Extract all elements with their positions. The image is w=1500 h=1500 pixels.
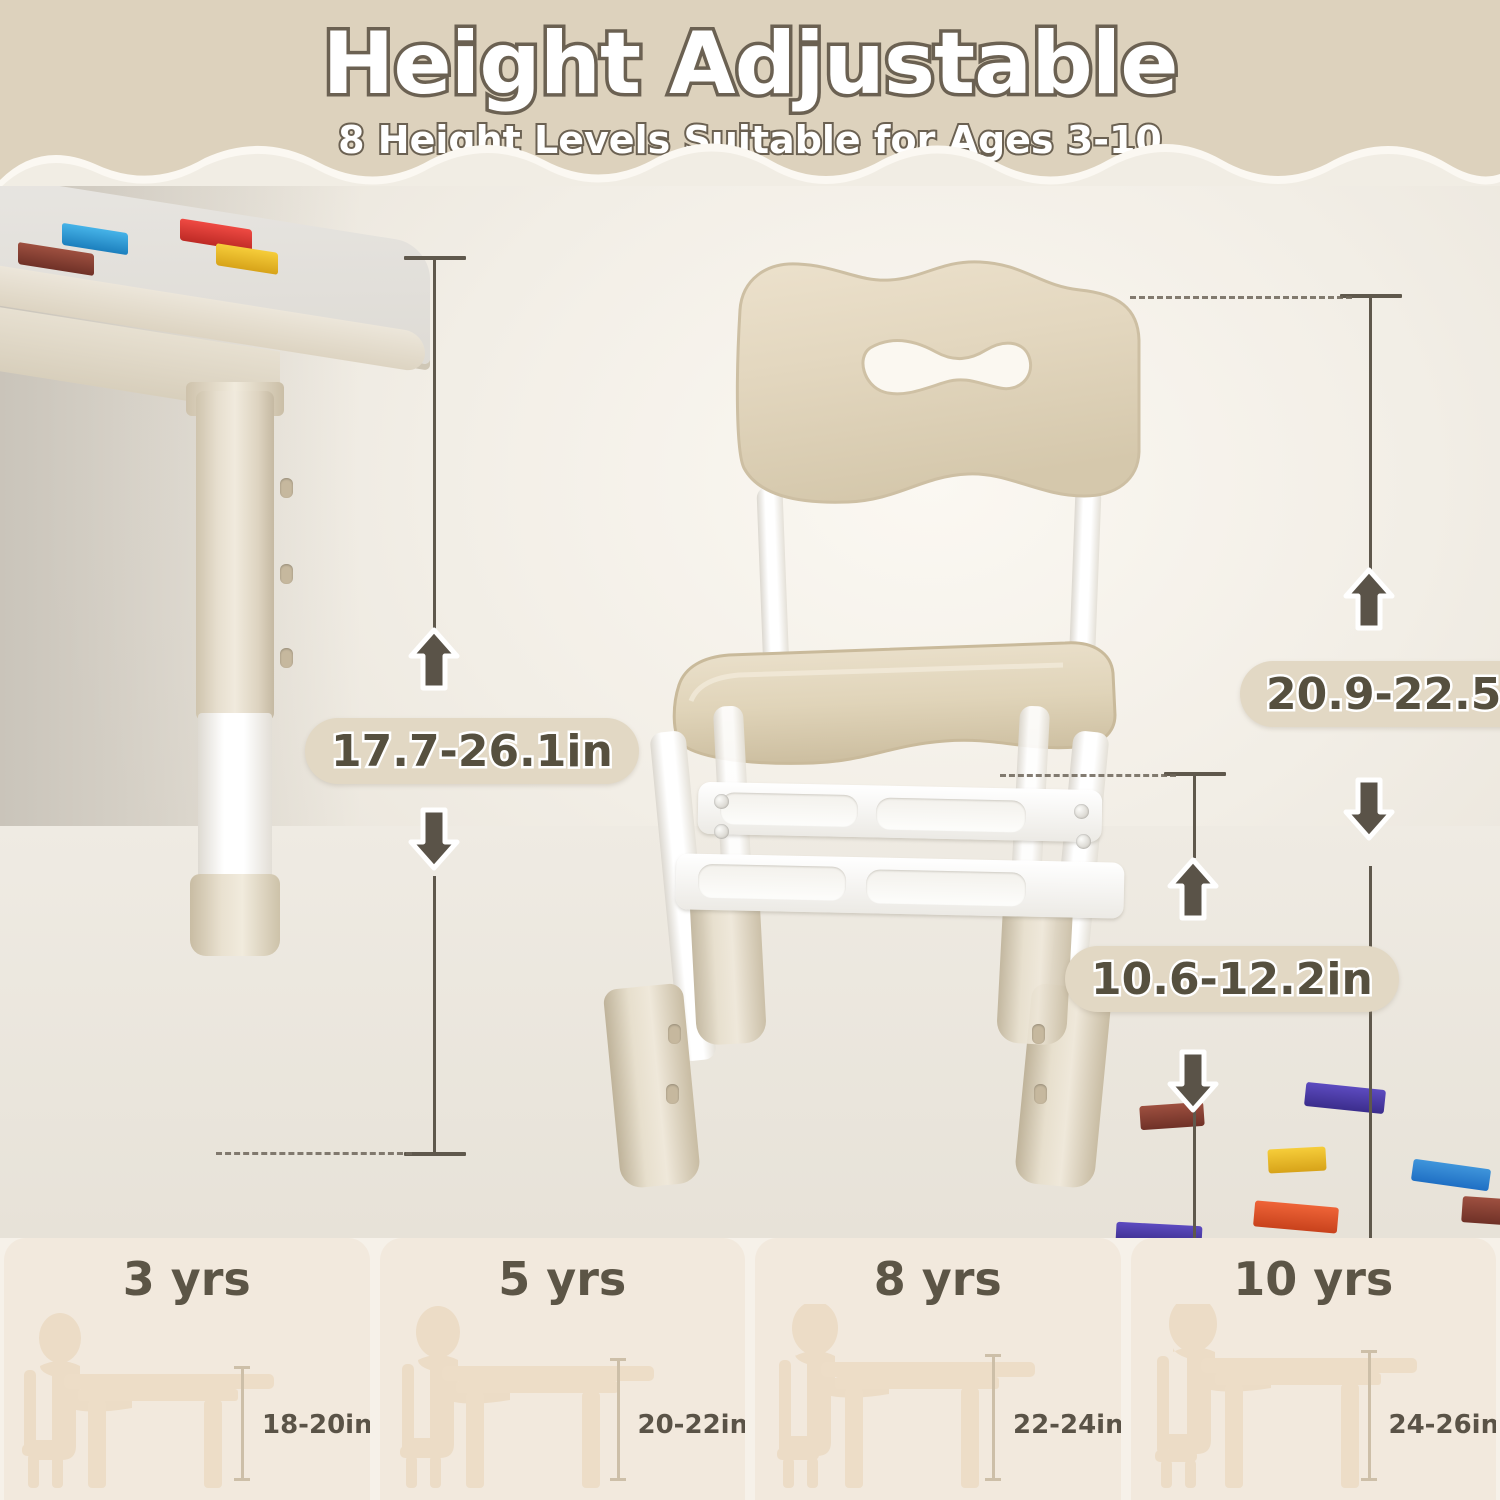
seat-height-value: 10.6-12.2in: [1091, 954, 1373, 1005]
chair-dim-line-upper: [1369, 294, 1372, 570]
table-height-value: 17.7-26.1in: [331, 726, 613, 777]
toy-block: [1461, 1196, 1500, 1226]
table-dim-leader: [216, 1152, 412, 1155]
chair-lower-rail: [675, 853, 1124, 918]
age-dim-cap-bottom: [610, 1478, 626, 1481]
age-panel-height: 18-20in: [262, 1410, 370, 1440]
table-height-badge: 17.7-26.1in: [305, 718, 639, 784]
age-panel-3yrs[interactable]: 3 yrs 18-20in: [4, 1238, 370, 1500]
age-guide-row: 3 yrs 18-20in: [0, 1238, 1500, 1500]
header-banner: Height Adjustable 8 Height Levels Suitab…: [0, 0, 1500, 200]
seat-height-badge: 10.6-12.2in: [1065, 946, 1399, 1012]
table-foot-cap: [190, 874, 280, 956]
chair-leg-adjust-hole: [1032, 1024, 1045, 1044]
age-panel-height: 24-26in: [1389, 1410, 1497, 1440]
age-dim-cap-bottom: [234, 1478, 250, 1481]
chair-height-badge: 20.9-22.5in: [1240, 661, 1500, 727]
infographic-root: Height Adjustable 8 Height Levels Suitab…: [0, 0, 1500, 1500]
age-panel-title: 3 yrs: [4, 1252, 370, 1306]
table-leg-lower: [198, 713, 272, 883]
arrow-up-icon: [407, 624, 461, 694]
arrow-down-icon: [1166, 1046, 1220, 1116]
arrow-up-icon: [1166, 854, 1220, 924]
arrow-down-icon: [407, 804, 461, 874]
age-panel-height: 22-24in: [1013, 1410, 1121, 1440]
chair-upper-rail: [697, 782, 1102, 842]
age-panel-5yrs[interactable]: 5 yrs 20-22in: [380, 1238, 746, 1500]
chair-dim-top-leader: [1130, 296, 1352, 299]
page-title: Height Adjustable: [0, 14, 1500, 114]
chair-dim-line-lower: [1369, 866, 1372, 1238]
seat-dim-leader: [1000, 774, 1176, 777]
arrow-up-icon: [1342, 564, 1396, 634]
age-panel-title: 5 yrs: [380, 1252, 746, 1306]
leg-adjust-hole: [280, 478, 293, 498]
age-dim-line: [992, 1354, 995, 1480]
chair-backrest: [718, 256, 1158, 516]
age-dim-line: [241, 1366, 244, 1480]
age-panel-title: 10 yrs: [1131, 1252, 1497, 1306]
age-panel-title: 8 yrs: [755, 1252, 1121, 1306]
table-dim-line-lower: [433, 876, 436, 1154]
child-at-desk-icon: [1145, 1304, 1445, 1492]
leg-adjust-hole: [280, 564, 293, 584]
age-panel-height: 20-22in: [638, 1410, 746, 1440]
child-at-desk-icon: [769, 1304, 1069, 1492]
chair-leg-adjust-hole: [666, 1084, 679, 1104]
age-panel-10yrs[interactable]: 10 yrs 24-26i: [1131, 1238, 1497, 1500]
table-dim-line-upper: [433, 256, 436, 636]
seat-dim-line-upper: [1193, 772, 1196, 858]
leg-adjust-hole: [280, 648, 293, 668]
rail-screw: [714, 794, 729, 809]
child-at-desk-icon: [18, 1304, 318, 1492]
chair-height-value: 20.9-22.5in: [1266, 669, 1500, 720]
table-leg-upper: [196, 391, 274, 721]
product-photo-scene: 17.7-26.1in 20.9-22.5in 10.6-12: [0, 186, 1500, 1238]
chair-leg-adjust-hole: [668, 1024, 681, 1044]
age-panel-8yrs[interactable]: 8 yrs 22-24in: [755, 1238, 1121, 1500]
chair-leg-adjust-hole: [1034, 1084, 1047, 1104]
child-at-desk-icon: [394, 1304, 694, 1492]
rail-screw: [714, 824, 729, 839]
age-dim-cap-bottom: [985, 1478, 1001, 1481]
rail-screw: [1074, 804, 1089, 819]
age-dim-cap-bottom: [1361, 1478, 1377, 1481]
table-dim-bottom-cap: [404, 1152, 466, 1156]
toy-block: [1267, 1146, 1326, 1173]
age-dim-line: [617, 1358, 620, 1480]
rail-screw: [1076, 834, 1091, 849]
age-dim-line: [1368, 1350, 1371, 1480]
arrow-down-icon: [1342, 774, 1396, 844]
